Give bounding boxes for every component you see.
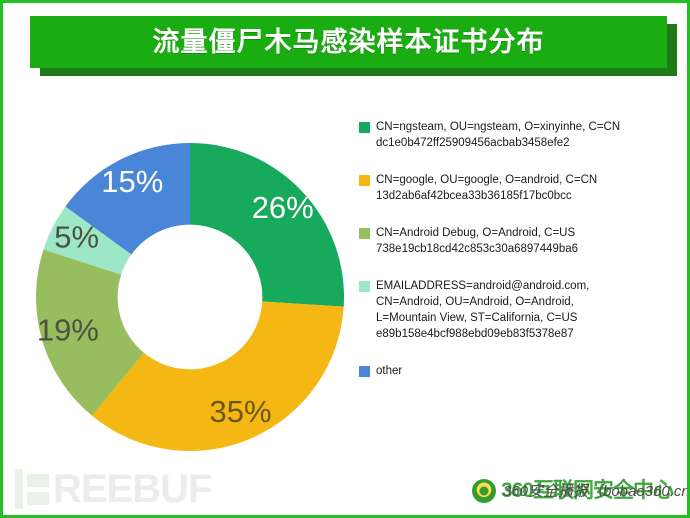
slide-canvas: 流量僵尸木马感染样本证书分布 26%35%19%5%15% CN=ngsteam… bbox=[0, 0, 690, 518]
legend-item[interactable]: other bbox=[359, 363, 679, 379]
legend-swatch-icon bbox=[359, 366, 370, 377]
legend-item[interactable]: CN=Android Debug, O=Android, C=US 738e19… bbox=[359, 225, 679, 257]
legend-item-label: other bbox=[376, 363, 402, 379]
legend-swatch-icon bbox=[359, 281, 370, 292]
legend-item-label: CN=google, OU=google, O=android, C=CN 13… bbox=[376, 172, 597, 204]
freebuf-watermark: REEBUF bbox=[15, 469, 211, 509]
bobao-watermark: 360互联网安全中心 360安全播报（bobao360.cn） bbox=[472, 475, 673, 507]
freebuf-logo-block bbox=[27, 492, 49, 505]
bobao-caption: 360安全播报（bobao360.cn） bbox=[503, 482, 690, 502]
freebuf-wordmark: REEBUF bbox=[53, 469, 211, 509]
legend-swatch-icon bbox=[359, 122, 370, 133]
donut-chart-svg: 26%35%19%5%15% bbox=[36, 143, 344, 451]
legend-swatch-icon bbox=[359, 175, 370, 186]
legend-item[interactable]: EMAILADDRESS=android@android.com, CN=And… bbox=[359, 278, 679, 342]
page-title: 流量僵尸木马感染样本证书分布 bbox=[153, 29, 545, 56]
legend-item[interactable]: CN=google, OU=google, O=android, C=CN 13… bbox=[359, 172, 679, 204]
donut-slice-value-label: 15% bbox=[101, 164, 163, 199]
donut-slice-value-label: 26% bbox=[252, 190, 314, 225]
bobao-logo-text: 360互联网安全中心 bbox=[501, 478, 673, 504]
bobao-logo-icon bbox=[472, 479, 496, 503]
chart-legend: CN=ngsteam, OU=ngsteam, O=xinyinhe, C=CN… bbox=[359, 119, 679, 379]
donut-slice-value-label: 19% bbox=[37, 313, 99, 348]
legend-item-label: CN=ngsteam, OU=ngsteam, O=xinyinhe, C=CN… bbox=[376, 119, 620, 151]
donut-chart: 26%35%19%5%15% bbox=[36, 143, 344, 451]
freebuf-logo-block bbox=[27, 474, 49, 487]
legend-item-label: CN=Android Debug, O=Android, C=US 738e19… bbox=[376, 225, 578, 257]
freebuf-logo-stack bbox=[27, 469, 49, 509]
donut-slice-value-label: 5% bbox=[54, 219, 99, 254]
donut-slice-value-label: 35% bbox=[209, 394, 271, 429]
freebuf-logo-bar bbox=[15, 469, 23, 509]
legend-swatch-icon bbox=[359, 228, 370, 239]
title-banner: 流量僵尸木马感染样本证书分布 bbox=[30, 16, 667, 68]
bobao-text-stack: 360互联网安全中心 360安全播报（bobao360.cn） bbox=[501, 478, 673, 504]
legend-item-label: EMAILADDRESS=android@android.com, CN=And… bbox=[376, 278, 589, 342]
legend-item[interactable]: CN=ngsteam, OU=ngsteam, O=xinyinhe, C=CN… bbox=[359, 119, 679, 151]
freebuf-logo-icon bbox=[15, 469, 49, 509]
